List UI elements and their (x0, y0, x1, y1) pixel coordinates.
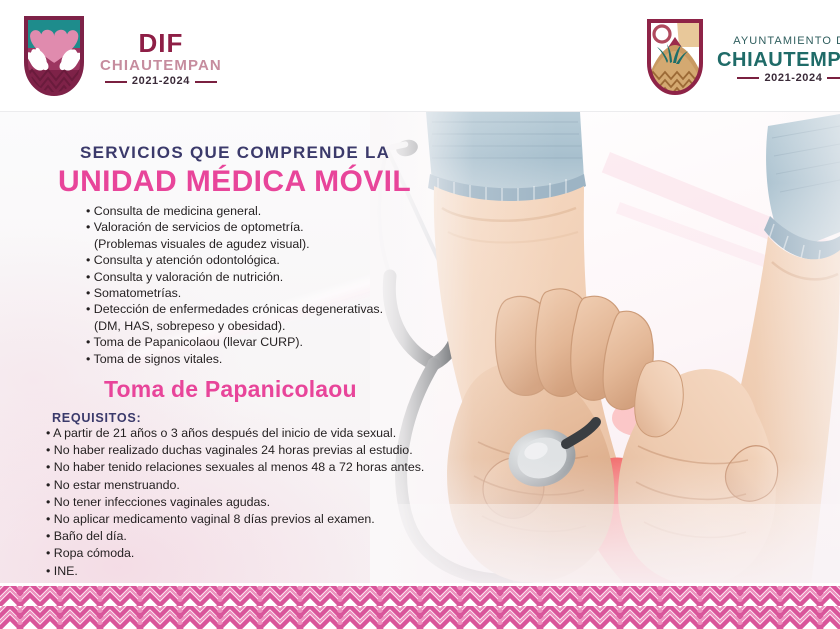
list-item: • Toma de Papanicolaou (llevar CURP). (86, 334, 406, 350)
rule-right (827, 77, 840, 79)
list-item: • No haber realizado duchas vaginales 24… (46, 442, 446, 459)
ayuntamiento-years: 2021-2024 (764, 73, 822, 84)
chevron-pattern-svg (0, 583, 840, 629)
ayuntamiento-logo[interactable]: AYUNTAMIENTO DE CHIAUTEMPAN 2021-2024 (645, 17, 840, 102)
list-item: • Baño del día. (46, 528, 446, 545)
chevron-border-decoration (0, 583, 840, 629)
dif-years-row: 2021-2024 (100, 76, 222, 87)
list-item: • Valoración de servicios de optometría. (86, 219, 406, 235)
list-item: • A partir de 21 años o 3 años después d… (46, 425, 446, 442)
dif-logo[interactable]: DIF CHIAUTEMPAN 2021-2024 (22, 14, 222, 103)
list-item: • INE. (46, 563, 446, 580)
list-item: • No estar menstruando. (46, 477, 446, 494)
rule-right (195, 81, 217, 83)
list-item: • Somatometrías. (86, 285, 406, 301)
page-header: DIF CHIAUTEMPAN 2021-2024 (0, 0, 840, 112)
dif-shield-heart-hands-icon (22, 14, 86, 103)
ayuntamiento-logo-text: AYUNTAMIENTO DE CHIAUTEMPAN 2021-2024 (717, 36, 840, 84)
page-title: UNIDAD MÉDICA MÓVIL (58, 165, 411, 199)
list-item: • Toma de signos vitales. (86, 351, 406, 367)
dif-title: DIF (100, 30, 222, 56)
list-item: • Consulta y atención odontológica. (86, 252, 406, 268)
services-kicker: SERVICIOS QUE COMPRENDE LA (80, 143, 390, 163)
ayuntamiento-line2: CHIAUTEMPAN (717, 50, 840, 70)
ayuntamiento-shield-mountain-icon (645, 17, 705, 102)
list-item: • No tener infecciones vaginales agudas. (46, 494, 446, 511)
rule-left (737, 77, 759, 79)
requirements-label: REQUISITOS: (52, 411, 141, 425)
list-item: • Ropa cómoda. (46, 545, 446, 562)
rule-left (105, 81, 127, 83)
requirements-list: • A partir de 21 años o 3 años después d… (46, 425, 446, 580)
list-item: • Detección de enfermedades crónicas deg… (86, 301, 406, 317)
list-item: (DM, HAS, sobrepeso y obesidad). (86, 318, 406, 334)
services-list: • Consulta de medicina general. • Valora… (86, 203, 406, 367)
ayuntamiento-line1: AYUNTAMIENTO DE (717, 36, 840, 47)
list-item: • Consulta de medicina general. (86, 203, 406, 219)
list-item: • No haber tenido relaciones sexuales al… (46, 459, 446, 476)
dif-logo-text: DIF CHIAUTEMPAN 2021-2024 (100, 30, 222, 87)
list-item: (Problemas visuales de agudez visual). (86, 236, 406, 252)
poster-root: SERVICIOS QUE COMPRENDE LA UNIDAD MÉDICA… (0, 0, 840, 629)
papanicolaou-title: Toma de Papanicolaou (104, 376, 357, 403)
list-item: • No aplicar medicamento vaginal 8 días … (46, 511, 446, 528)
list-item: • Consulta y valoración de nutrición. (86, 269, 406, 285)
dif-subtitle: CHIAUTEMPAN (100, 58, 222, 73)
dif-years: 2021-2024 (132, 76, 190, 87)
ayuntamiento-years-row: 2021-2024 (717, 73, 840, 84)
